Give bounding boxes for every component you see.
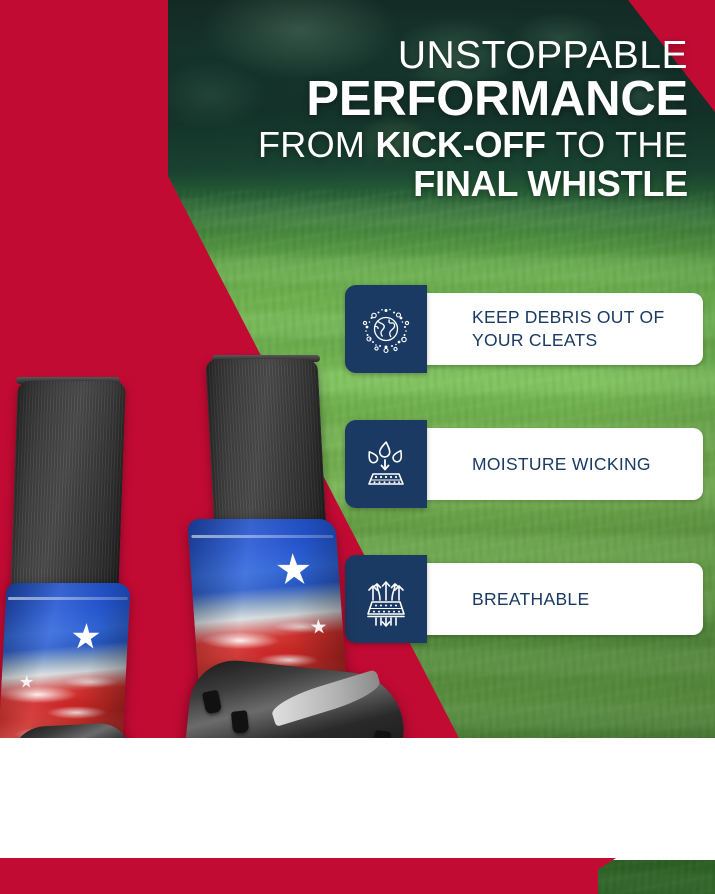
feature-label: KEEP DEBRIS OUT OF YOUR CLEATS [393,306,703,352]
cleat-stud [231,710,249,734]
headline-block: UNSTOPPABLE PERFORMANCE FROM KICK-OFF TO… [158,36,688,203]
bottom-white-band [0,738,715,860]
headline-line-3-bold: KICK-OFF [375,124,545,165]
bottom-red-bar [0,858,598,894]
headline-line-1: UNSTOPPABLE [158,36,688,76]
black-sock [205,359,326,535]
headline-line-4: FINAL WHISTLE [158,165,688,203]
headline-line-3-post: TO THE [546,124,688,165]
headline-line-3: FROM KICK-OFF TO THE [158,126,688,164]
headline-line-3-pre: FROM [258,124,375,165]
headline-line-2: PERFORMANCE [158,75,688,125]
black-sock [10,381,126,599]
spat-seam [191,535,333,538]
product-marketing-poster: UNSTOPPABLE PERFORMANCE FROM KICK-OFF TO… [0,0,715,894]
spat-seam [8,597,127,600]
